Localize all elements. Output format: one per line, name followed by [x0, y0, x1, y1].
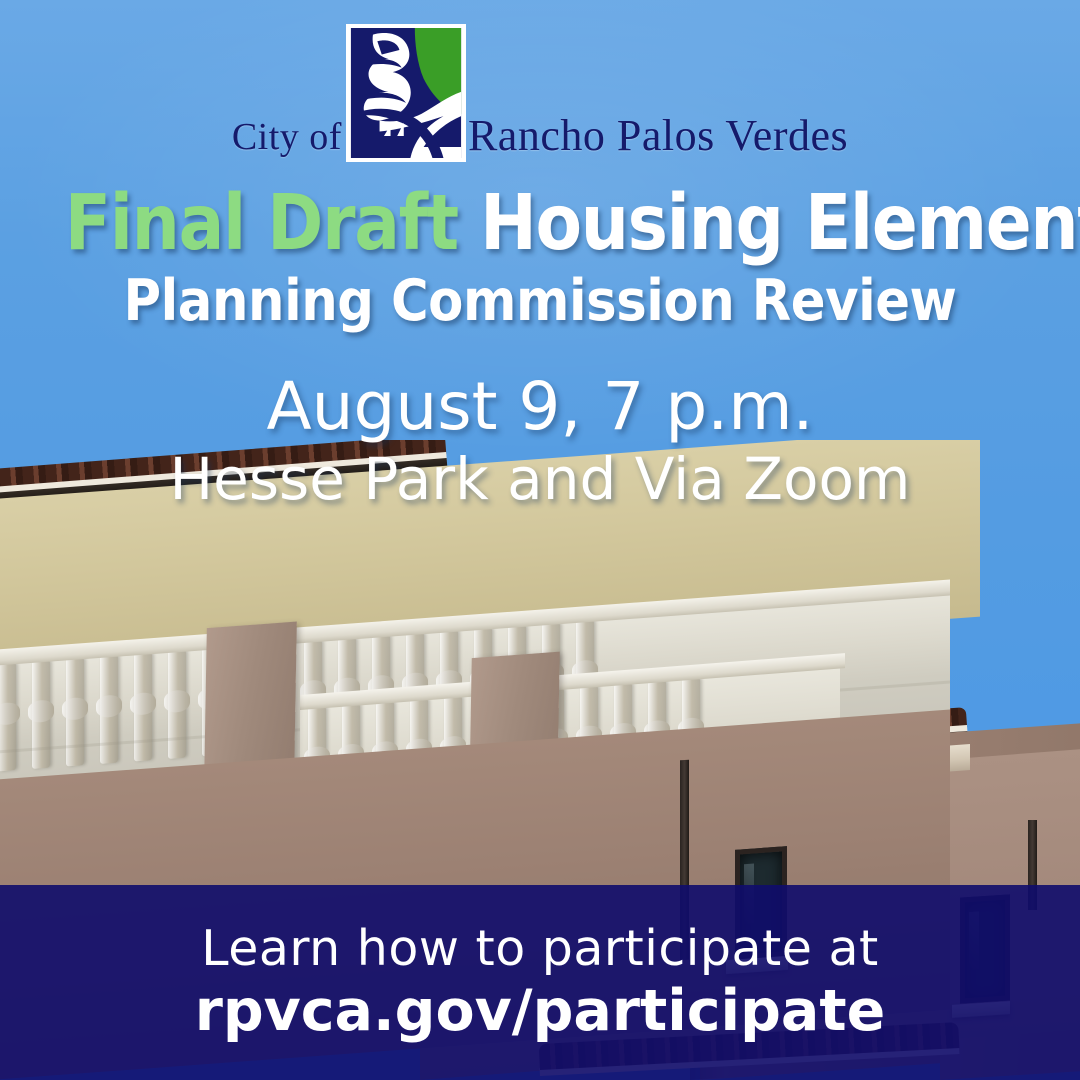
headline-accent: Final Draft [65, 179, 458, 268]
event-details: August 9, 7 p.m. Hesse Park and Via Zoom [0, 372, 1080, 510]
page-title: Final Draft Housing Element [65, 185, 1015, 264]
logo-city-name-text: Rancho Palos Verdes [468, 114, 848, 162]
call-to-action-banner: Learn how to participate at rpvca.gov/pa… [0, 885, 1080, 1080]
headline-main: Housing Element [480, 179, 1080, 268]
page-subtitle: Planning Commission Review [54, 272, 1026, 332]
headline-spacer [458, 179, 480, 268]
rpv-pelican-logo-icon [346, 24, 466, 162]
city-logo: City of Rancho Palos Verdes [0, 22, 1080, 162]
event-date-time: August 9, 7 p.m. [0, 372, 1080, 441]
logo-city-of-text: City of [232, 118, 342, 162]
cta-text: Learn how to participate at [201, 922, 878, 976]
cta-url[interactable]: rpvca.gov/participate [195, 980, 886, 1043]
poster-graphic: City of Rancho Palos Verdes Final Draft … [0, 0, 1080, 1080]
headline-block: Final Draft Housing Element Planning Com… [0, 185, 1080, 331]
event-location: Hesse Park and Via Zoom [0, 449, 1080, 510]
